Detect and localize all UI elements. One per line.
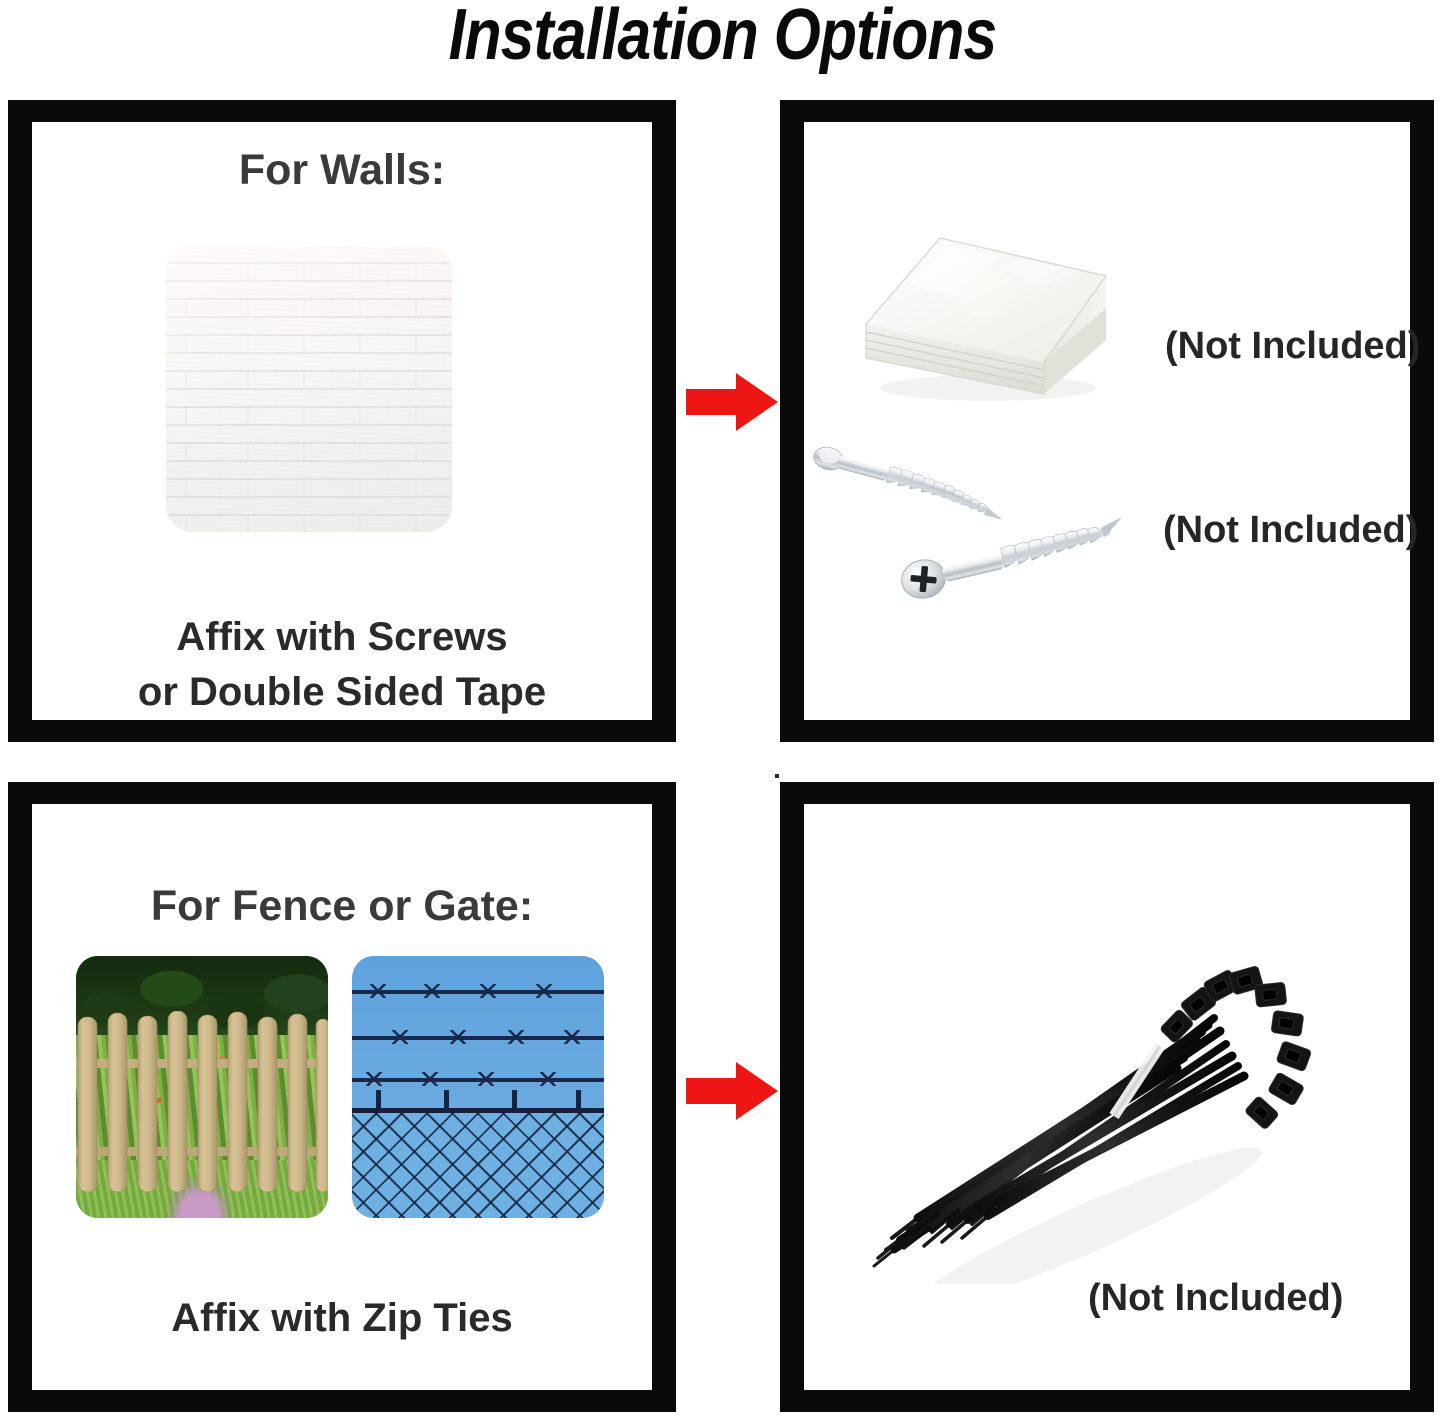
white-brick-wall-swatch-image	[166, 246, 452, 532]
barbed-wire-chain-link-fence-photo	[352, 956, 604, 1218]
page-title: Installation Options	[116, 0, 1330, 76]
panel-for-fence-caption: Affix with Zip Ties	[32, 1291, 652, 1346]
wall-sheen	[166, 246, 452, 532]
note-not-included-screws: (Not Included)	[1163, 509, 1418, 552]
barbed-wire-strand-1	[352, 990, 604, 994]
barb-12	[540, 1072, 556, 1086]
barb-3	[480, 984, 496, 998]
picket-fence-svg	[76, 1011, 328, 1192]
right-arrow-icon	[686, 1060, 778, 1122]
chain-link-mesh	[352, 1113, 604, 1218]
barb-1	[370, 984, 386, 998]
barb-6	[450, 1030, 466, 1044]
note-not-included-zip-ties: (Not Included)	[1088, 1277, 1343, 1320]
barb-10	[422, 1072, 438, 1086]
screw-phillips-b-image	[900, 505, 1148, 615]
ziptie-bundle-svg	[838, 898, 1330, 1284]
red-right-arrow-bottom	[686, 1060, 778, 1122]
red-right-arrow-top	[686, 371, 778, 433]
panel-for-fence-heading: For Fence or Gate:	[32, 882, 652, 931]
screw-b-svg	[900, 505, 1148, 615]
barb-9	[366, 1072, 382, 1086]
right-arrow-icon	[686, 371, 778, 433]
barb-5	[392, 1030, 408, 1044]
tape-stack-svg	[848, 212, 1120, 408]
fence-pickets	[76, 1011, 328, 1192]
stray-dot-artifact	[775, 774, 779, 778]
barb-7	[508, 1030, 524, 1044]
wooden-picket-fence-photo	[76, 956, 328, 1218]
installation-options-infographic: Installation Options For Walls: Affix wi…	[0, 0, 1445, 1422]
barb-11	[478, 1072, 494, 1086]
caption-line-2: or Double Sided Tape	[32, 665, 652, 720]
panel-for-walls-heading: For Walls:	[32, 146, 652, 195]
barb-8	[564, 1030, 580, 1044]
panel-for-walls-caption: Affix with Screws or Double Sided Tape	[32, 610, 652, 720]
double-sided-tape-stack-image	[848, 212, 1120, 408]
caption-line-1: Affix with Screws	[32, 610, 652, 665]
barb-4	[536, 984, 552, 998]
zip-tie-bundle-image	[838, 898, 1330, 1284]
barb-2	[424, 984, 440, 998]
note-not-included-tape: (Not Included)	[1165, 325, 1420, 368]
panel-hardware	[780, 100, 1434, 742]
